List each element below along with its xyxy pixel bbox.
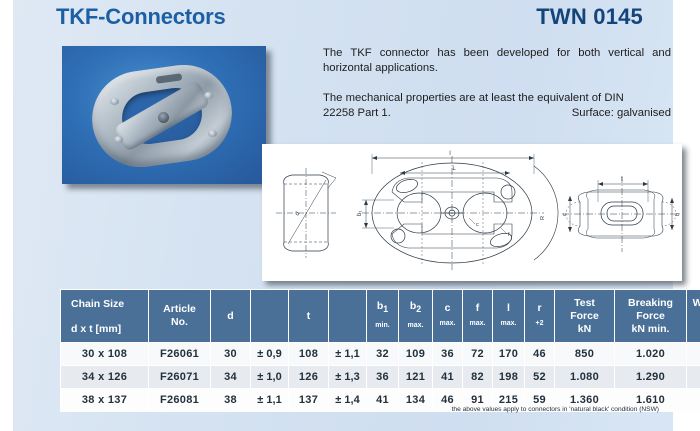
cell-f: 72 — [463, 343, 493, 366]
connector-pin — [158, 112, 169, 123]
connector-illustration — [92, 68, 232, 164]
drawing-plan-view: R l L — [357, 151, 558, 270]
cell-chain-size: 30 x 108 — [61, 343, 149, 366]
th-l-label: l — [507, 302, 510, 314]
th-chain-size: Chain Size d x t [mm] — [61, 290, 149, 343]
cell-b2: 109 — [399, 343, 433, 366]
connector-rivet — [204, 92, 213, 99]
th-t-tolerance — [329, 290, 367, 343]
intro-paragraph-2-end: 22258 Part 1. — [323, 106, 391, 121]
cell-breaking-force: 1.290 — [615, 366, 687, 389]
th-l: l max. — [493, 290, 525, 343]
svg-text:b: b — [675, 213, 681, 216]
svg-text:L: L — [452, 166, 456, 172]
svg-text:t: t — [621, 177, 623, 183]
paragraph-spacer — [323, 76, 671, 91]
cell-f: 82 — [463, 366, 493, 389]
th-test-force-line1: Test — [555, 297, 614, 310]
svg-text:R: R — [540, 216, 546, 220]
table-footnote: the above values apply to connectors in … — [452, 406, 659, 413]
cell-l: 170 — [493, 343, 525, 366]
svg-text:l: l — [449, 151, 450, 157]
th-c: c max. — [433, 290, 463, 343]
th-b2: b2 max. — [399, 290, 433, 343]
surface-line: 22258 Part 1. Surface: galvanised — [323, 106, 671, 121]
page-title: TKF-Connectors — [56, 4, 226, 30]
th-t: t — [289, 290, 329, 343]
th-c-label: c — [445, 302, 451, 314]
connector-rivet — [110, 98, 119, 105]
th-t-label: t — [307, 310, 311, 322]
svg-text:c: c — [476, 222, 479, 228]
cell-t: 108 — [289, 343, 329, 366]
svg-text:d: d — [295, 211, 302, 217]
connector-rivet — [114, 136, 123, 143]
cell-t-tolerance: ± 1,4 — [329, 389, 367, 412]
specification-table: Chain Size d x t [mm] Article No. d t — [60, 289, 700, 412]
th-b2-label: b2 — [410, 300, 421, 312]
intro-text-block: The TKF connector has been developed for… — [323, 46, 671, 121]
cell-r: 52 — [525, 366, 555, 389]
technical-drawing-svg: d — [262, 144, 682, 281]
cell-t: 137 — [289, 389, 329, 412]
cell-b2: 121 — [399, 366, 433, 389]
th-test-force: Test Force kN — [555, 290, 615, 343]
th-article-line1: Article — [149, 303, 210, 316]
th-r-label: r — [537, 302, 541, 314]
table-row: 30 x 108 F26061 30 ± 0,9 108 ± 1,1 32 10… — [61, 343, 700, 366]
th-test-force-line2: Force — [555, 310, 614, 323]
cell-d-tolerance: ± 1,1 — [251, 389, 289, 412]
datasheet-page: TKF-Connectors TWN 0145 The TKF connecto… — [0, 0, 700, 431]
svg-text:f: f — [508, 232, 510, 238]
product-code: TWN 0145 — [536, 4, 643, 30]
th-b1-unit: min. — [367, 320, 398, 332]
table-header-row: Chain Size d x t [mm] Article No. d t — [61, 290, 700, 343]
technical-drawing-panel: d — [262, 144, 682, 281]
cell-c: 41 — [433, 366, 463, 389]
table-body: 30 x 108 F26061 30 ± 0,9 108 ± 1,1 32 10… — [61, 343, 700, 412]
cell-article-no: F26081 — [149, 389, 211, 412]
th-d: d — [211, 290, 251, 343]
cell-d: 38 — [211, 389, 251, 412]
svg-text:b₁: b₁ — [357, 211, 363, 216]
th-r-unit: +2 — [525, 318, 554, 330]
table-row: 34 x 126 F26071 34 ± 1,0 126 ± 1,3 36 12… — [61, 366, 700, 389]
cell-d-tolerance: ± 1,0 — [251, 366, 289, 389]
cell-weight: 4,2 — [687, 366, 700, 389]
th-chain-size-sub: d x t [mm] — [71, 323, 148, 335]
cell-r: 46 — [525, 343, 555, 366]
th-test-force-unit: kN — [555, 323, 614, 336]
cell-d: 34 — [211, 366, 251, 389]
cell-b1: 36 — [367, 366, 399, 389]
drawing-side-view: d — [276, 168, 336, 258]
th-breaking-force-line2: Force — [615, 310, 686, 323]
th-d-label: d — [227, 310, 233, 322]
th-f-label: f — [476, 302, 480, 314]
cell-c: 36 — [433, 343, 463, 366]
cell-t-tolerance: ± 1,1 — [329, 343, 367, 366]
cell-breaking-force: 1.020 — [615, 343, 687, 366]
cell-d: 30 — [211, 343, 251, 366]
th-chain-size-label: Chain Size — [71, 298, 124, 310]
specification-table-wrapper: Chain Size d x t [mm] Article No. d t — [60, 289, 673, 412]
product-photo — [62, 46, 266, 184]
cell-d-tolerance: ± 0,9 — [251, 343, 289, 366]
intro-paragraph-2: The mechanical properties are at least t… — [323, 91, 671, 106]
surface-label: Surface: galvanised — [572, 106, 671, 121]
th-article-no: Article No. — [149, 290, 211, 343]
th-article-line2: No. — [149, 316, 210, 329]
th-b1: b1 min. — [367, 290, 399, 343]
cell-chain-size: 34 x 126 — [61, 366, 149, 389]
cell-b1: 41 — [367, 389, 399, 412]
th-f: f max. — [463, 290, 493, 343]
drawing-elevation-view: t c b — [562, 176, 681, 252]
th-d-tolerance — [251, 290, 289, 343]
th-breaking-force: Breaking Force kN min. — [615, 290, 687, 343]
cell-b2: 134 — [399, 389, 433, 412]
svg-text:c: c — [562, 213, 568, 216]
th-weight-label: Weight — [687, 297, 700, 310]
th-weight-unit: kg — [687, 323, 700, 336]
cell-t: 126 — [289, 366, 329, 389]
cell-test-force: 850 — [555, 343, 615, 366]
connector-rivet — [208, 130, 217, 137]
th-b1-label: b1 — [377, 300, 388, 312]
cell-article-no: F26071 — [149, 366, 211, 389]
th-breaking-force-line1: Breaking — [615, 297, 686, 310]
cell-t-tolerance: ± 1,3 — [329, 366, 367, 389]
th-c-unit: max. — [433, 318, 462, 330]
cell-b1: 32 — [367, 343, 399, 366]
th-breaking-force-unit: kN min. — [615, 323, 686, 336]
cell-test-force: 1.080 — [555, 366, 615, 389]
th-l-unit: max. — [493, 318, 524, 330]
intro-paragraph-1: The TKF connector has been developed for… — [323, 46, 671, 76]
cell-weight: 5,7 — [687, 389, 700, 412]
cell-weight: 2,6 — [687, 343, 700, 366]
cell-l: 198 — [493, 366, 525, 389]
sheet-background: TKF-Connectors TWN 0145 The TKF connecto… — [13, 0, 673, 431]
cell-chain-size: 38 x 137 — [61, 389, 149, 412]
th-weight: Weight kg — [687, 290, 700, 343]
th-r: r +2 — [525, 290, 555, 343]
th-f-unit: max. — [463, 318, 492, 330]
cell-article-no: F26061 — [149, 343, 211, 366]
th-b2-unit: max. — [399, 320, 432, 332]
